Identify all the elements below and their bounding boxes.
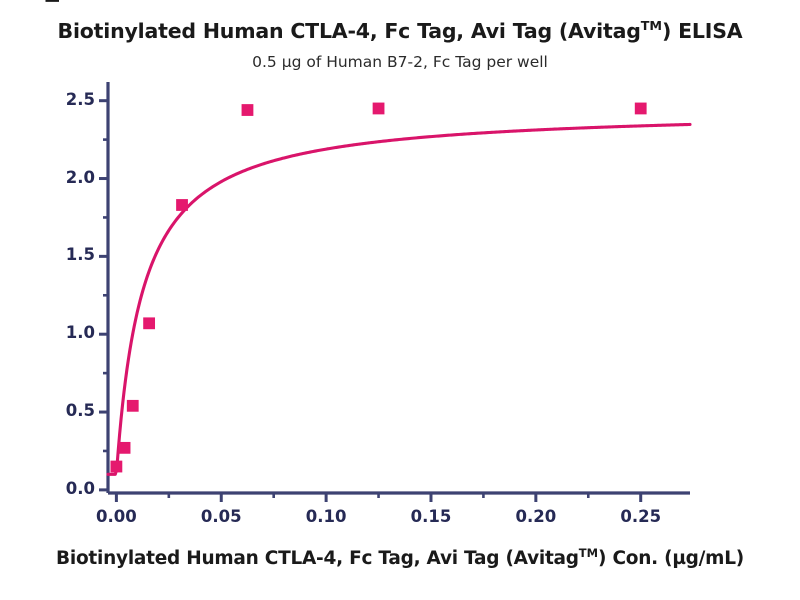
x-tick-label: 0.25 <box>606 507 676 526</box>
y-tick-label: 1.0 <box>39 323 95 342</box>
x-tick-label: 0.05 <box>186 507 256 526</box>
y-tick-label: 2.0 <box>39 168 95 187</box>
y-tick-label: 1.5 <box>39 245 95 264</box>
x-tick-label: 0.00 <box>81 507 151 526</box>
data-point-marker <box>373 103 384 114</box>
x-tick-label: 0.10 <box>291 507 361 526</box>
fit-curve <box>108 124 690 474</box>
data-point-marker <box>119 442 130 453</box>
data-point-marker <box>127 400 138 411</box>
data-point-marker <box>144 318 155 329</box>
y-tick-label: 2.5 <box>39 90 95 109</box>
axes-group <box>99 82 690 502</box>
data-point-marker <box>111 461 122 472</box>
y-tick-label: 0.5 <box>39 401 95 420</box>
chart-figure: Biotinylated Human CTLA-4, Fc Tag, Avi T… <box>0 0 800 600</box>
data-markers-group <box>111 103 646 472</box>
data-point-marker <box>242 105 253 116</box>
x-tick-label: 0.15 <box>396 507 466 526</box>
data-point-marker <box>635 103 646 114</box>
y-tick-label: 0.0 <box>39 479 95 498</box>
fit-curve-group <box>108 124 690 474</box>
data-point-marker <box>177 200 188 211</box>
x-tick-label: 0.20 <box>501 507 571 526</box>
